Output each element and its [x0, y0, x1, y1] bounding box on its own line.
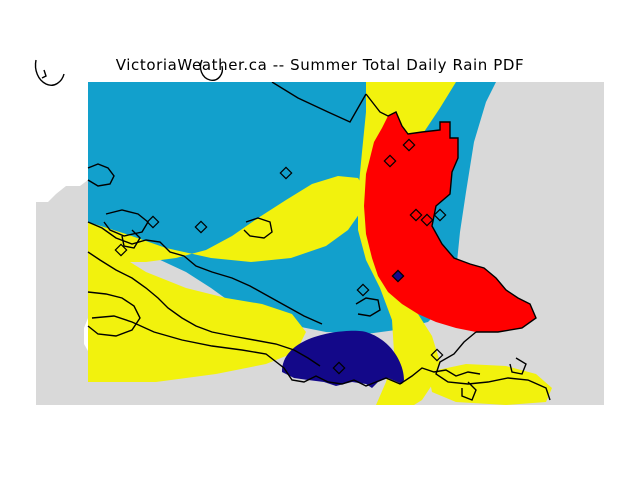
island-outline-a: [35, 60, 64, 85]
decorative-island-outline-top: [196, 58, 236, 86]
colorbar-area: 8 9 10 11 12 95th percentile of daily ra…: [0, 420, 640, 480]
decorative-island-outlines: [30, 52, 150, 100]
map-panel: [36, 82, 604, 405]
island-outline-c: [200, 60, 222, 80]
weather-map-page: VictoriaWeather.ca -- Summer Total Daily…: [0, 0, 640, 480]
contour-map: [36, 82, 604, 405]
island-outline-b: [42, 70, 46, 78]
ocean-white-northwest: [36, 82, 88, 202]
